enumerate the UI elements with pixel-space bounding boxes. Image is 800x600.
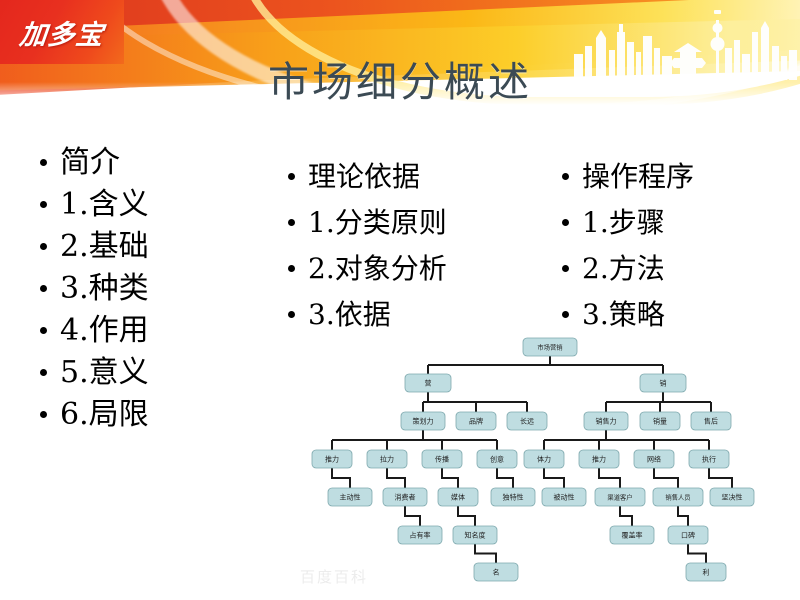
bullet-item-label: 6.局限 — [60, 394, 149, 436]
chart-node: 名 — [474, 563, 518, 581]
chart-node-label: 销售人员 — [665, 493, 690, 502]
bullet-item-label: 2.基础 — [60, 226, 149, 268]
chart-node: 推力 — [312, 450, 352, 468]
chart-node: 推力 — [579, 450, 619, 468]
chart-connector — [458, 506, 475, 526]
chart-node: 坚决性 — [710, 488, 754, 506]
chart-node: 知名度 — [453, 526, 497, 544]
chart-node-label: 长远 — [520, 417, 534, 426]
bullet-item-label: 理论依据 — [308, 154, 420, 200]
bullet-column-middle: 理论依据1.分类原则2.对象分析3.依据 — [288, 154, 447, 338]
chart-node-label: 销量 — [653, 417, 667, 426]
chart-node: 覆盖率 — [610, 526, 654, 544]
chart-connector — [428, 356, 663, 374]
chart-connector — [497, 468, 513, 488]
chart-node-label: 网络 — [647, 455, 661, 464]
bullet-item: 1.步骤 — [562, 200, 694, 246]
chart-connector — [654, 468, 678, 488]
bullet-dot-icon — [288, 265, 295, 272]
bullet-item: 3.种类 — [40, 268, 149, 310]
chart-node: 网络 — [634, 450, 674, 468]
bullet-column-right: 操作程序1.步骤2.方法3.策略 — [562, 154, 694, 338]
chart-node: 长远 — [507, 412, 547, 430]
chart-connector — [387, 468, 405, 488]
page-title: 市场细分概述 — [0, 48, 800, 108]
chart-connector — [606, 392, 711, 412]
bullet-dot-icon — [288, 173, 295, 180]
chart-node-label: 体力 — [537, 455, 551, 464]
bullet-item-label: 简介 — [60, 142, 120, 184]
chart-node-label: 独特性 — [503, 493, 524, 502]
chart-node-label: 利 — [703, 568, 710, 577]
chart-node-label: 知名度 — [465, 531, 486, 540]
bullet-item-label: 1.分类原则 — [308, 200, 447, 246]
bullet-item-label: 4.作用 — [60, 310, 149, 352]
chart-node-label: 销售力 — [596, 417, 617, 426]
chart-node: 主动性 — [328, 488, 372, 506]
chart-node-label: 占有率 — [410, 531, 431, 540]
chart-node: 执行 — [689, 450, 729, 468]
chart-node-label: 品牌 — [469, 417, 483, 426]
chart-node: 独特性 — [491, 488, 535, 506]
chart-connector — [332, 430, 497, 450]
bullet-dot-icon — [562, 173, 569, 180]
bullet-item: 5.意义 — [40, 352, 149, 394]
chart-node-label: 售后 — [704, 417, 718, 426]
chart-node-label: 传播 — [435, 455, 449, 464]
bullet-column-left: 简介1.含义2.基础3.种类4.作用5.意义6.局限 — [40, 142, 149, 436]
chart-node: 创意 — [477, 450, 517, 468]
bullet-item-label: 3.种类 — [60, 268, 149, 310]
bullet-item-label: 1.含义 — [60, 184, 149, 226]
chart-node-label: 覆盖率 — [622, 531, 643, 540]
bullet-item: 6.局限 — [40, 394, 149, 436]
chart-node-label: 渠道客户 — [607, 493, 632, 502]
bullet-dot-icon — [562, 265, 569, 272]
chart-node: 渠道客户 — [595, 488, 645, 506]
chart-node: 媒体 — [438, 488, 478, 506]
marketing-structure-chart: 市场营销营销策划力品牌长远销售力销量售后推力拉力传播创意体力推力网络执行主动性消… — [288, 330, 758, 592]
chart-node-label: 被动性 — [554, 493, 575, 502]
bullet-item: 1.含义 — [40, 184, 149, 226]
chart-connector — [709, 468, 732, 488]
bullet-dot-icon — [288, 311, 295, 318]
chart-node-label: 创意 — [490, 455, 504, 464]
chart-node: 销售人员 — [653, 488, 703, 506]
bullet-dot-icon — [40, 369, 47, 376]
bullet-dot-icon — [40, 327, 47, 334]
bullet-item: 1.分类原则 — [288, 200, 447, 246]
bullet-item-label: 1.步骤 — [582, 200, 665, 246]
chart-node-label: 名 — [493, 568, 500, 577]
chart-connector — [544, 430, 709, 450]
bullet-item: 2.方法 — [562, 246, 694, 292]
chart-connector — [475, 544, 496, 563]
bullet-dot-icon — [562, 311, 569, 318]
chart-node: 占有率 — [398, 526, 442, 544]
bullet-item: 简介 — [40, 142, 149, 184]
chart-node: 销售力 — [584, 412, 628, 430]
chart-connector — [405, 506, 420, 526]
brand-logo-text: 加多宝 — [18, 13, 106, 52]
chart-node-label: 营 — [425, 379, 432, 388]
chart-node-label: 销 — [660, 379, 667, 388]
chart-connector — [599, 468, 620, 488]
chart-node-label: 媒体 — [451, 493, 465, 502]
chart-node: 售后 — [691, 412, 731, 430]
chart-node-label: 推力 — [592, 455, 606, 464]
chart-node: 消费者 — [383, 488, 427, 506]
chart-node: 拉力 — [367, 450, 407, 468]
chart-connector — [423, 392, 527, 412]
bullet-dot-icon — [288, 219, 295, 226]
bullet-dot-icon — [40, 411, 47, 418]
chart-node-label: 口碑 — [681, 531, 695, 540]
chart-node-label: 坚决性 — [722, 493, 743, 502]
chart-node-label: 推力 — [325, 455, 339, 464]
chart-connector — [688, 544, 706, 563]
chart-node-label: 策划力 — [413, 417, 434, 426]
chart-node: 销量 — [640, 412, 680, 430]
chart-node: 利 — [686, 563, 726, 581]
chart-node: 营 — [405, 374, 451, 392]
bullet-item: 2.基础 — [40, 226, 149, 268]
chart-node: 被动性 — [542, 488, 586, 506]
chart-node: 市场营销 — [523, 338, 577, 356]
bullet-item-label: 5.意义 — [60, 352, 149, 394]
chart-node: 策划力 — [401, 412, 445, 430]
chart-node-label: 市场营销 — [537, 343, 562, 352]
chart-node-label: 拉力 — [380, 455, 394, 464]
bullet-dot-icon — [40, 285, 47, 292]
chart-node: 销 — [640, 374, 686, 392]
chart-connector — [678, 506, 688, 526]
bullet-item: 2.对象分析 — [288, 246, 447, 292]
chart-node: 体力 — [524, 450, 564, 468]
chart-connector — [332, 468, 350, 488]
chart-node: 口碑 — [668, 526, 708, 544]
chart-connector — [544, 468, 564, 488]
bullet-item-label: 2.对象分析 — [308, 246, 447, 292]
bullet-item: 操作程序 — [562, 154, 694, 200]
presentation-slide: 加多宝 市场细分概述 简介1.含义2.基础3.种类4.作用5.意义6.局限 理论… — [0, 0, 800, 600]
bullet-dot-icon — [40, 159, 47, 166]
chart-node-label: 主动性 — [340, 493, 361, 502]
chart-node: 品牌 — [456, 412, 496, 430]
bullet-dot-icon — [562, 219, 569, 226]
bullet-item-label: 2.方法 — [582, 246, 665, 292]
chart-node: 传播 — [422, 450, 462, 468]
bullet-item: 理论依据 — [288, 154, 447, 200]
chart-node-label: 执行 — [702, 455, 716, 464]
chart-canvas: 市场营销营销策划力品牌长远销售力销量售后推力拉力传播创意体力推力网络执行主动性消… — [288, 330, 758, 592]
chart-connector — [442, 468, 458, 488]
bullet-dot-icon — [40, 201, 47, 208]
chart-node-label: 消费者 — [395, 493, 416, 502]
bullet-item-label: 操作程序 — [582, 154, 694, 200]
bullet-dot-icon — [40, 243, 47, 250]
chart-connector — [620, 506, 632, 526]
bullet-item: 4.作用 — [40, 310, 149, 352]
